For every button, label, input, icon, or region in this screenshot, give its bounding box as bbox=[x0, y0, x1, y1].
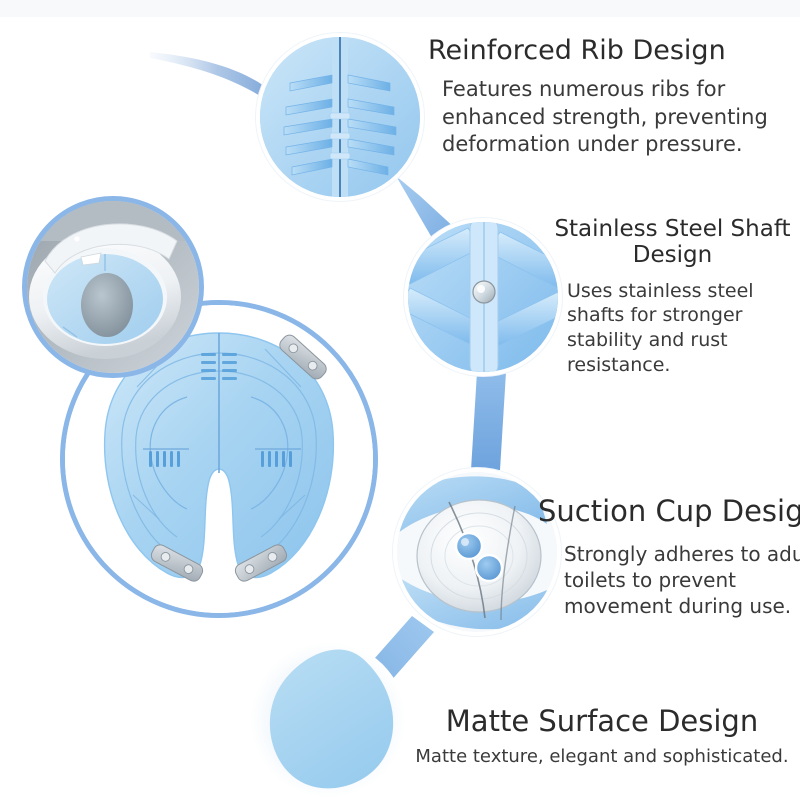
feature-text-matte: Matte Surface Design Matte texture, eleg… bbox=[404, 705, 800, 769]
feature-text-shaft: Stainless Steel Shaft Design Uses stainl… bbox=[545, 217, 800, 377]
feature-text-rib: Reinforced Rib Design Features numerous … bbox=[428, 36, 800, 158]
matte-surface-swatch bbox=[250, 640, 416, 800]
infographic-canvas: Reinforced Rib Design Features numerous … bbox=[0, 0, 800, 800]
feature-body-matte: Matte texture, elegant and sophisticated… bbox=[404, 745, 800, 768]
feature-heading-shaft: Stainless Steel Shaft Design bbox=[545, 217, 800, 269]
feature-text-suction: Suction Cup Design Strongly adheres to a… bbox=[538, 495, 800, 619]
feature-body-rib: Features numerous ribs for enhanced stre… bbox=[428, 76, 800, 158]
feature-body-shaft: Uses stainless steel shafts for stronger… bbox=[545, 279, 800, 378]
feature-heading-rib: Reinforced Rib Design bbox=[428, 36, 800, 66]
shaft-closeup-circle bbox=[404, 218, 562, 376]
rib-closeup-photo bbox=[260, 37, 420, 197]
seat-installed-on-toilet-photo bbox=[27, 201, 199, 373]
suction-cup-closeup-photo bbox=[397, 472, 557, 632]
shaft-hinge-closeup-photo bbox=[408, 222, 558, 372]
feature-body-suction: Strongly adheres to adult toilets to pre… bbox=[538, 541, 800, 619]
connector-shaft-to-suction bbox=[471, 372, 506, 470]
feature-heading-suction: Suction Cup Design bbox=[538, 495, 800, 527]
suction-cup-closeup-circle bbox=[393, 468, 561, 636]
connector-rib-pointer bbox=[150, 52, 272, 101]
feature-heading-matte: Matte Surface Design bbox=[404, 705, 800, 737]
installed-product-inset-circle bbox=[22, 196, 204, 378]
rib-closeup-circle bbox=[256, 33, 424, 201]
matte-surface-swatch-shape bbox=[250, 640, 416, 800]
